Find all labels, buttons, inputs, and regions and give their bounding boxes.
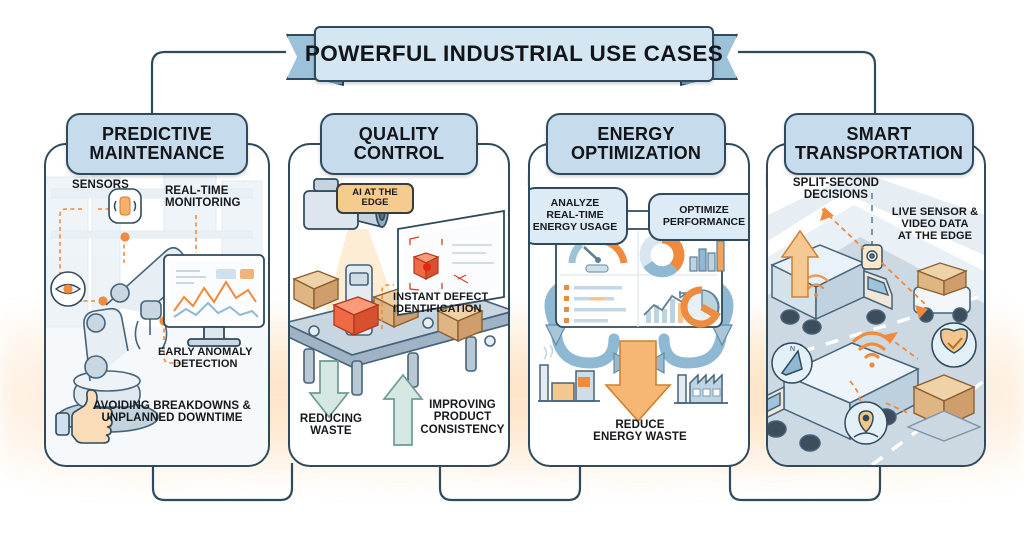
parcel-icon	[908, 375, 980, 441]
early-anomaly-detection-label: EARLY ANOMALYDETECTION	[158, 347, 253, 371]
split-second-decisions-label: SPLIT-SECONDDECISIONS	[780, 177, 892, 202]
optimize-performance-bubble: OPTIMIZEPERFORMANCE	[648, 193, 750, 241]
panel-title-energy-optimization: ENERGYOPTIMIZATION	[571, 125, 701, 163]
reducing-waste-label: REDUCINGWASTE	[296, 413, 366, 438]
improving-product-consistency-label: IMPROVINGPRODUCTCONSISTENCY	[420, 399, 505, 436]
main-banner: POWERFUL INDUSTRIAL USE CASES	[286, 26, 738, 78]
sensor-chip-icon	[109, 189, 141, 223]
panel-title-predictive-maintenance: PREDICTIVEMAINTENANCE	[89, 125, 224, 163]
shield-check-icon	[932, 323, 976, 367]
svg-text:N: N	[790, 346, 795, 353]
live-sensor-video-label: LIVE SENSOR &VIDEO DATAAT THE EDGE	[886, 207, 984, 243]
panel-smart-transportation[interactable]: N	[766, 143, 986, 467]
location-pin-icon	[845, 402, 887, 444]
sensor-node-icon	[862, 245, 882, 269]
panel-energy-optimization[interactable]: ANALYZEREAL-TIMEENERGY USAGE OPTIMIZEPER…	[528, 143, 750, 467]
panel-predictive-maintenance[interactable]: SENSORS REAL-TIMEMONITORING EARLY ANOMAL…	[44, 143, 270, 467]
analyze-energy-bubble: ANALYZEREAL-TIMEENERGY USAGE	[528, 187, 628, 245]
eye-icon	[51, 272, 85, 306]
instant-defect-identification-label: INSTANT DEFECTIDENTIFICATION	[393, 292, 488, 316]
panel-header-energy-optimization[interactable]: ENERGYOPTIMIZATION	[546, 113, 726, 175]
banner-title: POWERFUL INDUSTRIAL USE CASES	[305, 41, 723, 67]
pie-chart-icon	[684, 290, 719, 324]
infographic-canvas: POWERFUL INDUSTRIAL USE CASES	[0, 0, 1024, 559]
panel-header-quality-control[interactable]: QUALITYCONTROL	[320, 113, 478, 175]
real-time-monitoring-label: REAL-TIMEMONITORING	[165, 185, 241, 210]
reduce-energy-waste-label: REDUCEENERGY WASTE	[575, 419, 705, 444]
panel-header-smart-transportation[interactable]: SMARTTRANSPORTATION	[784, 113, 974, 175]
compass-icon: N	[772, 343, 812, 383]
panel-header-predictive-maintenance[interactable]: PREDICTIVEMAINTENANCE	[66, 113, 248, 175]
banner-plate: POWERFUL INDUSTRIAL USE CASES	[314, 26, 714, 82]
down-arrow-icon	[310, 361, 348, 417]
factory-icon	[674, 375, 728, 403]
panel-quality-control[interactable]: AI AT THEEDGE INSTANT DEFECTIDENTIFICATI…	[288, 143, 510, 467]
panel-title-quality-control: QUALITYCONTROL	[354, 125, 444, 163]
sensors-label: SENSORS	[72, 179, 129, 191]
panel-title-smart-transportation: SMARTTRANSPORTATION	[795, 125, 963, 163]
ai-at-the-edge-badge: AI AT THEEDGE	[336, 183, 414, 214]
avoiding-breakdowns-label: AVOIDING BREAKDOWNS &UNPLANNED DOWNTIME	[86, 400, 258, 425]
